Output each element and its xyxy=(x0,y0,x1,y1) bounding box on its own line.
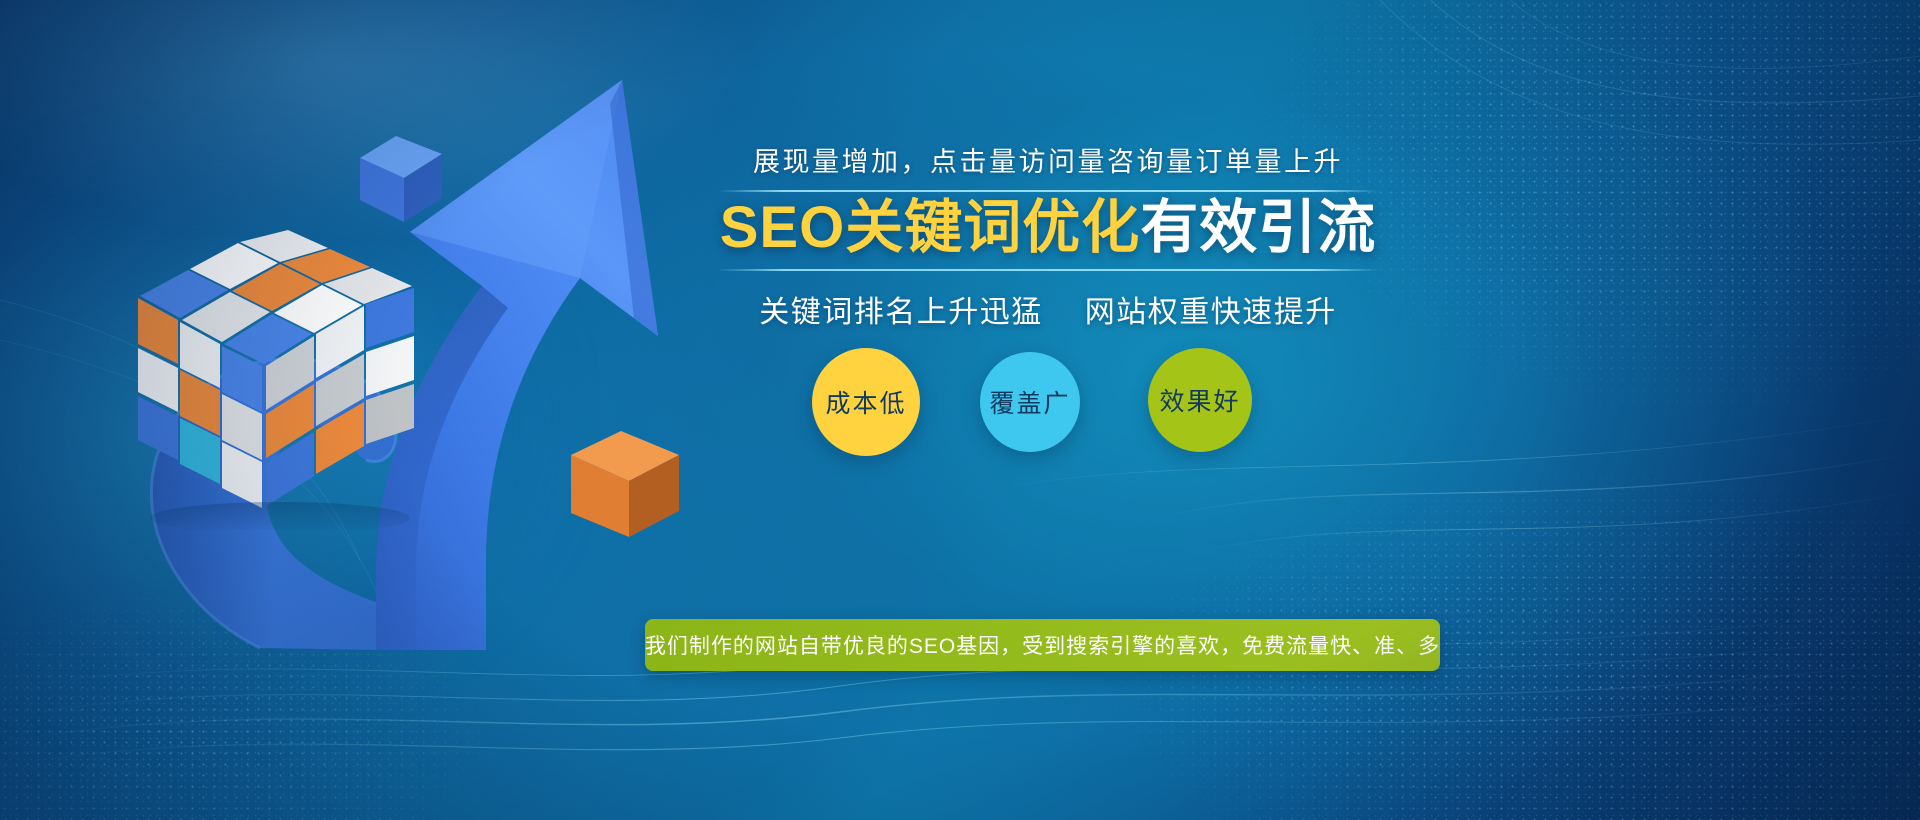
background-vignette xyxy=(0,0,1920,820)
seo-promo-banner: 展现量增加，点击量访问量咨询量订单量上升 SEO关键词优化有效引流 关键词排名上… xyxy=(0,0,1920,820)
